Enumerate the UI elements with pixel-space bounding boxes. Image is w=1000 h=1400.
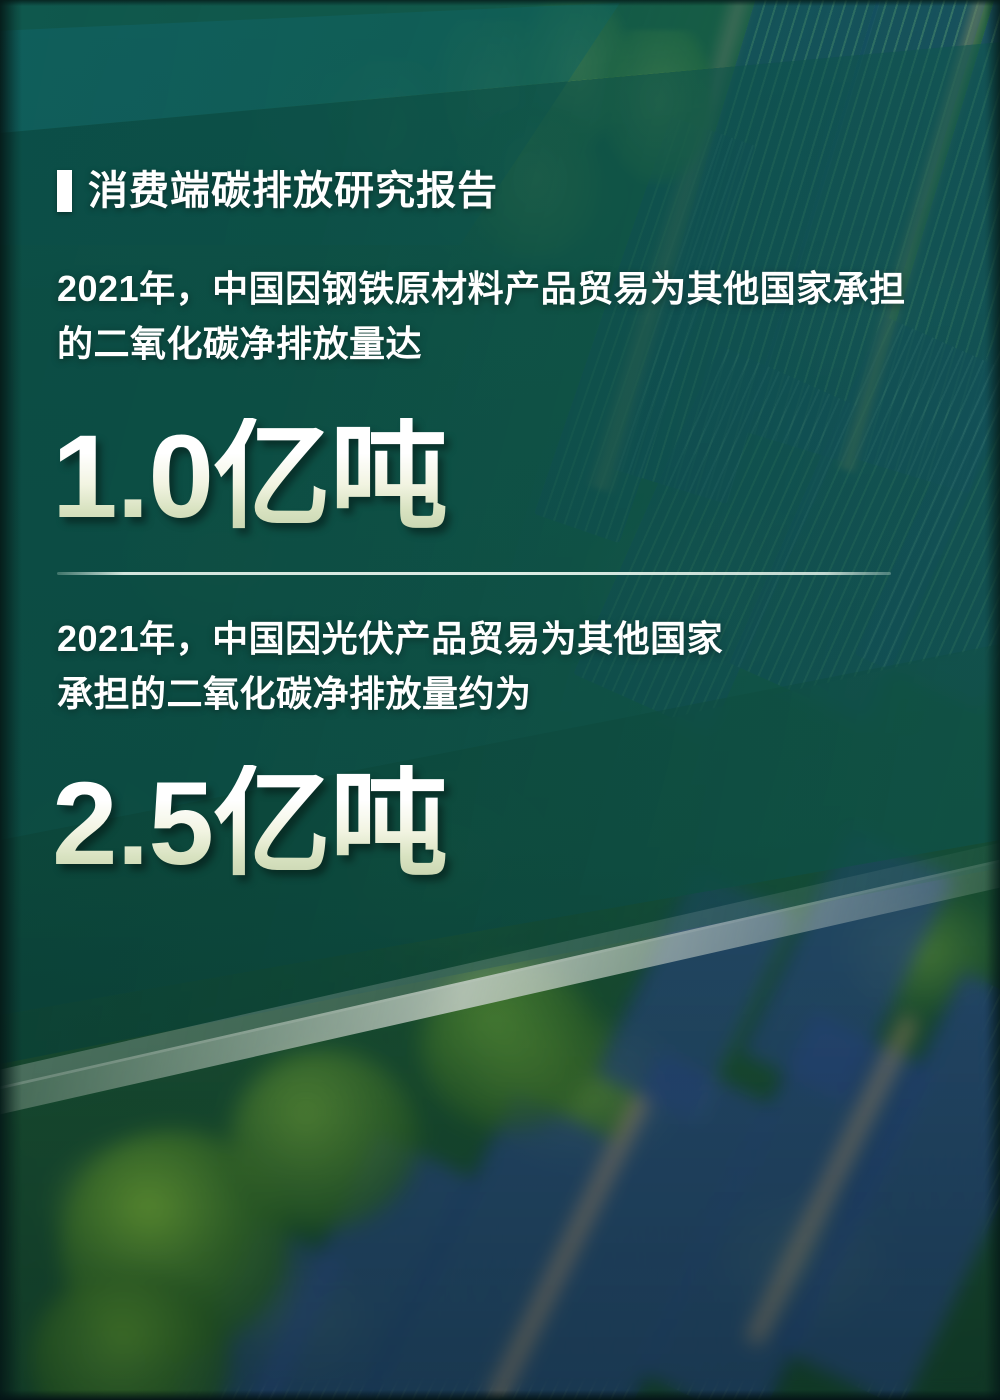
title-marker-bar-icon [57, 170, 72, 212]
report-title-row: 消费端碳排放研究报告 [57, 170, 498, 212]
stat-value-solar: 2.5亿吨 [52, 765, 447, 883]
poster-content: 消费端碳排放研究报告 2021年，中国因钢铁原材料产品贸易为其他国家承担的二氧化… [0, 0, 1000, 1400]
stat-lede-steel: 2021年，中国因钢铁原材料产品贸易为其他国家承担的二氧化碳净排放量达 [57, 262, 937, 371]
poster-root: 消费端碳排放研究报告 2021年，中国因钢铁原材料产品贸易为其他国家承担的二氧化… [0, 0, 1000, 1400]
section-divider [57, 572, 891, 575]
stat-value-steel: 1.0亿吨 [52, 418, 447, 536]
page-title: 消费端碳排放研究报告 [88, 171, 498, 211]
stat-lede-solar: 2021年，中国因光伏产品贸易为其他国家承担的二氧化碳净排放量约为 [57, 612, 757, 721]
